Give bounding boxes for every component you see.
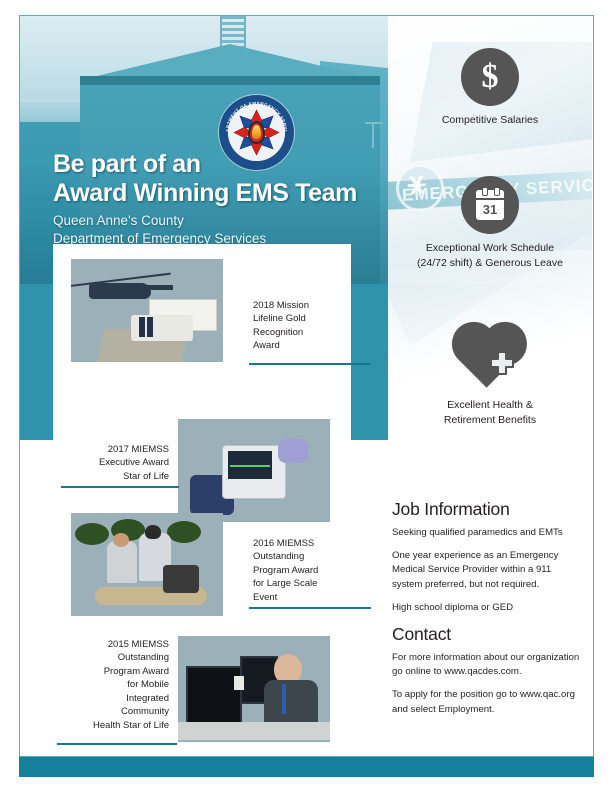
benefit-label: Competitive Salaries — [388, 113, 592, 128]
caption-line: Program Award — [253, 564, 365, 577]
contact-heading: Contact — [392, 624, 582, 645]
benefit-label-line: Excellent Health & — [388, 398, 592, 413]
benefit-label: Excellent Health & Retirement Benefits — [388, 398, 592, 428]
subtitle-line-1: Queen Anne's County — [53, 212, 383, 230]
contact-paragraph[interactable]: To apply for the position go to www.qac.… — [392, 688, 582, 716]
award-rule — [61, 486, 179, 488]
award-rule — [57, 743, 177, 745]
award-photo — [178, 636, 330, 742]
benefit-label-line: Retirement Benefits — [388, 413, 592, 428]
benefit-item-salary: $ Competitive Salaries — [388, 48, 592, 128]
caption-line: 2016 MIEMSS — [253, 537, 365, 550]
calendar-ring — [494, 187, 500, 196]
caption-line: Integrated — [57, 692, 169, 705]
footer-bar — [19, 757, 594, 777]
job-information-heading: Job Information — [392, 499, 582, 520]
benefit-item-health: Excellent Health & Retirement Benefits — [388, 334, 592, 428]
award-photo — [71, 259, 223, 362]
award-rule — [249, 607, 371, 609]
station-roof-band — [80, 76, 380, 85]
station-roof — [80, 44, 380, 80]
award-caption: 2015 MIEMSS Outstanding Program Award fo… — [57, 638, 169, 732]
job-information-paragraph: One year experience as an Emergency Medi… — [392, 549, 582, 592]
caption-line: Recognition — [253, 326, 365, 339]
calendar-day-number: 31 — [476, 199, 504, 220]
contact-paragraph[interactable]: For more information about our organizat… — [392, 651, 582, 679]
caption-line: 2017 MIEMSS — [61, 443, 169, 456]
calendar-icon: 31 — [461, 176, 519, 234]
calendar-page: 31 — [476, 190, 504, 220]
flame-icon — [252, 125, 261, 139]
page-frame: EMERGENCY SERVICES DEPARTMENT OF EMERGEN… — [19, 15, 594, 757]
benefit-label-line: Competitive Salaries — [388, 113, 592, 128]
flyer-page: EMERGENCY SERVICES DEPARTMENT OF EMERGEN… — [0, 0, 612, 792]
caption-line: for Large Scale — [253, 577, 365, 590]
caption-line: Outstanding — [253, 550, 365, 563]
award-rule — [249, 363, 371, 365]
calendar-ring — [482, 187, 488, 196]
caption-line: 2015 MIEMSS — [57, 638, 169, 651]
page-title: Be part of an Award Winning EMS Team — [53, 150, 383, 208]
utility-pole — [372, 122, 374, 148]
caption-line: Community — [57, 705, 169, 718]
job-information-paragraph: High school diploma or GED — [392, 601, 582, 615]
award-caption: 2016 MIEMSS Outstanding Program Award fo… — [253, 537, 365, 604]
caption-line: Program Award — [57, 665, 169, 678]
award-photo — [178, 419, 330, 522]
benefit-label-line: Exceptional Work Schedule — [388, 241, 592, 256]
caption-line: Lifeline Gold — [253, 312, 365, 325]
benefit-label-line: (24/72 shift) & Generous Leave — [388, 256, 592, 271]
dollar-glyph: $ — [461, 48, 519, 106]
caption-line: Event — [253, 591, 365, 604]
headline-line-2: Award Winning EMS Team — [53, 179, 383, 208]
caption-line: 2018 Mission — [253, 299, 365, 312]
contact-section: Contact For more information about our o… — [392, 624, 582, 726]
dollar-sign-icon: $ — [461, 48, 519, 106]
heart-with-medical-cross-icon — [461, 334, 519, 388]
benefit-label: Exceptional Work Schedule (24/72 shift) … — [388, 241, 592, 271]
utility-pole-arm — [365, 122, 383, 124]
award-caption: 2018 Mission Lifeline Gold Recognition A… — [253, 299, 365, 353]
caption-line: Star of Life — [61, 470, 169, 483]
medical-cross-icon — [487, 350, 517, 380]
caption-line: for Mobile — [57, 678, 169, 691]
job-information-section: Job Information Seeking qualified parame… — [392, 499, 582, 624]
headline-line-1: Be part of an — [53, 150, 383, 179]
award-photo — [71, 513, 223, 616]
job-information-paragraph: Seeking qualified paramedics and EMTs — [392, 526, 582, 540]
caption-line: Executive Award — [61, 456, 169, 469]
caption-line: Outstanding — [57, 651, 169, 664]
benefit-item-schedule: 31 Exceptional Work Schedule (24/72 shif… — [388, 176, 592, 271]
award-caption: 2017 MIEMSS Executive Award Star of Life — [61, 443, 169, 483]
caption-line: Health Star of Life — [57, 719, 169, 732]
caption-line: Award — [253, 339, 365, 352]
